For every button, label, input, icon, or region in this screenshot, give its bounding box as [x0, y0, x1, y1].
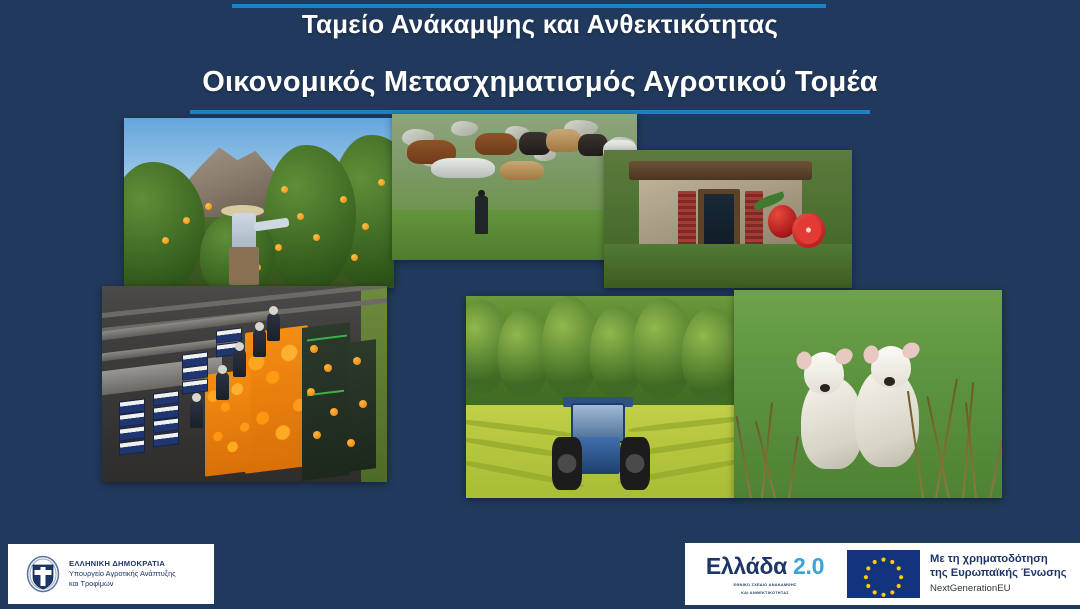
greece-version-text: 2.0	[793, 553, 824, 579]
ministry-logo-panel: ΕΛΛΗΝΙΚΗ ΔΗΜΟΚΡΑΤΙΑ Υπουργείο Αγροτικής …	[8, 544, 214, 604]
photo-tractor-mowing	[466, 296, 736, 498]
greece-wordmark-text: Ελλάδα	[706, 553, 787, 579]
greece-subtitle-1: ΕΘΝΙΚΟ ΣΧΕΔΙΟ ΑΝΑΚΑΜΨΗΣ	[734, 582, 797, 588]
photo-collage	[0, 0, 1080, 609]
eu-funding-line-1: Με τη χρηματοδότηση	[930, 553, 1067, 567]
eu-nextgeneration-label: NextGenerationEU	[930, 583, 1067, 595]
photo-orange-grove	[124, 118, 394, 288]
european-union-flag-icon	[847, 550, 920, 598]
hellenic-republic-coat-of-arms-icon	[26, 555, 60, 593]
eu-funding-line-2: της Ευρωπαϊκής Ένωσης	[930, 567, 1067, 581]
eu-funding-logo-panel: Με τη χρηματοδότηση της Ευρωπαϊκής Ένωση…	[845, 543, 1080, 605]
photo-stone-farmhouse	[604, 150, 852, 288]
ministry-subtitle-2: και Τροφίμων	[69, 579, 176, 589]
photo-citrus-packing-house	[102, 286, 387, 482]
presentation-slide: Ταμείο Ανάκαμψης και Ανθεκτικότητας Οικο…	[0, 0, 1080, 609]
photo-grazing-cattle	[392, 114, 637, 260]
photo-two-lambs	[734, 290, 1002, 498]
greece-2-0-wordmark: Ελλάδα 2.0	[706, 553, 824, 580]
greece-2-0-logo-panel: Ελλάδα 2.0 ΕΘΝΙΚΟ ΣΧΕΔΙΟ ΑΝΑΚΑΜΨΗΣ ΚΑΙ Α…	[685, 543, 845, 605]
ministry-title: ΕΛΛΗΝΙΚΗ ΔΗΜΟΚΡΑΤΙΑ	[69, 559, 176, 569]
greece-subtitle-2: ΚΑΙ ΑΝΘΕΚΤΙΚΟΤΗΤΑΣ	[741, 590, 789, 596]
ministry-subtitle-1: Υπουργείο Αγροτικής Ανάπτυξης	[69, 569, 176, 579]
